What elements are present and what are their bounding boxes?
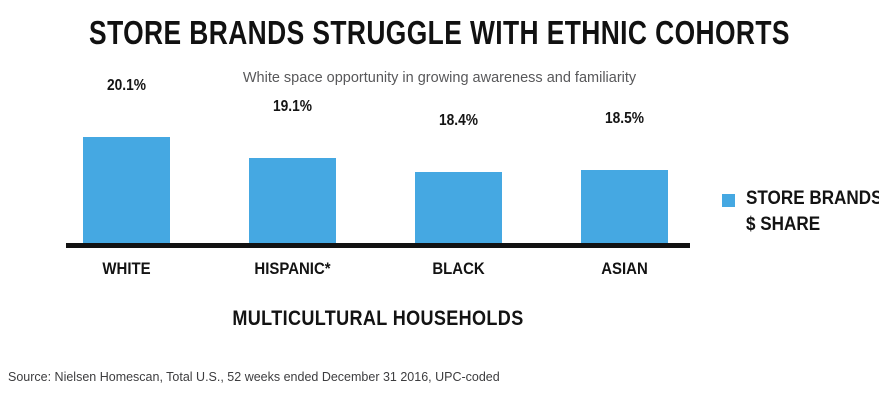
bar-white[interactable] bbox=[83, 137, 170, 245]
bar-group-black: 18.4% bbox=[415, 100, 502, 245]
bar-group-hispanic: 19.1% bbox=[249, 100, 336, 245]
bar-hispanic[interactable] bbox=[249, 158, 336, 245]
plot-area: 20.1% 19.1% 18.4% 18.5% bbox=[66, 100, 690, 245]
legend-swatch-icon bbox=[722, 194, 735, 207]
bar-value-asian: 18.5% bbox=[587, 110, 662, 128]
category-label-white: WHITE bbox=[88, 259, 165, 279]
legend-entry-store-brands: STORE BRANDS $ SHARE bbox=[746, 186, 879, 238]
category-label-asian: ASIAN bbox=[586, 259, 663, 279]
source-note: Source: Nielsen Homescan, Total U.S., 52… bbox=[8, 370, 500, 384]
x-axis-tick-labels: WHITE HISPANIC* BLACK ASIAN bbox=[66, 259, 690, 283]
legend-label-line-1: STORE BRANDS bbox=[746, 186, 879, 212]
bar-value-hispanic: 19.1% bbox=[255, 98, 330, 116]
bar-value-white: 20.1% bbox=[89, 77, 164, 95]
bar-black[interactable] bbox=[415, 172, 502, 245]
category-label-black: BLACK bbox=[420, 259, 497, 279]
x-axis-title: MULTICULTURAL HOUSEHOLDS bbox=[110, 307, 647, 331]
category-label-hispanic: HISPANIC* bbox=[254, 259, 331, 279]
legend-label-line-2: $ SHARE bbox=[746, 212, 879, 238]
bar-group-white: 20.1% bbox=[83, 100, 170, 245]
bar-group-asian: 18.5% bbox=[581, 100, 668, 245]
x-axis-line bbox=[66, 243, 690, 248]
bar-value-black: 18.4% bbox=[421, 112, 496, 130]
chart-title: STORE BRANDS STRUGGLE WITH ETHNIC COHORT… bbox=[88, 14, 791, 52]
bar-asian[interactable] bbox=[581, 170, 668, 245]
